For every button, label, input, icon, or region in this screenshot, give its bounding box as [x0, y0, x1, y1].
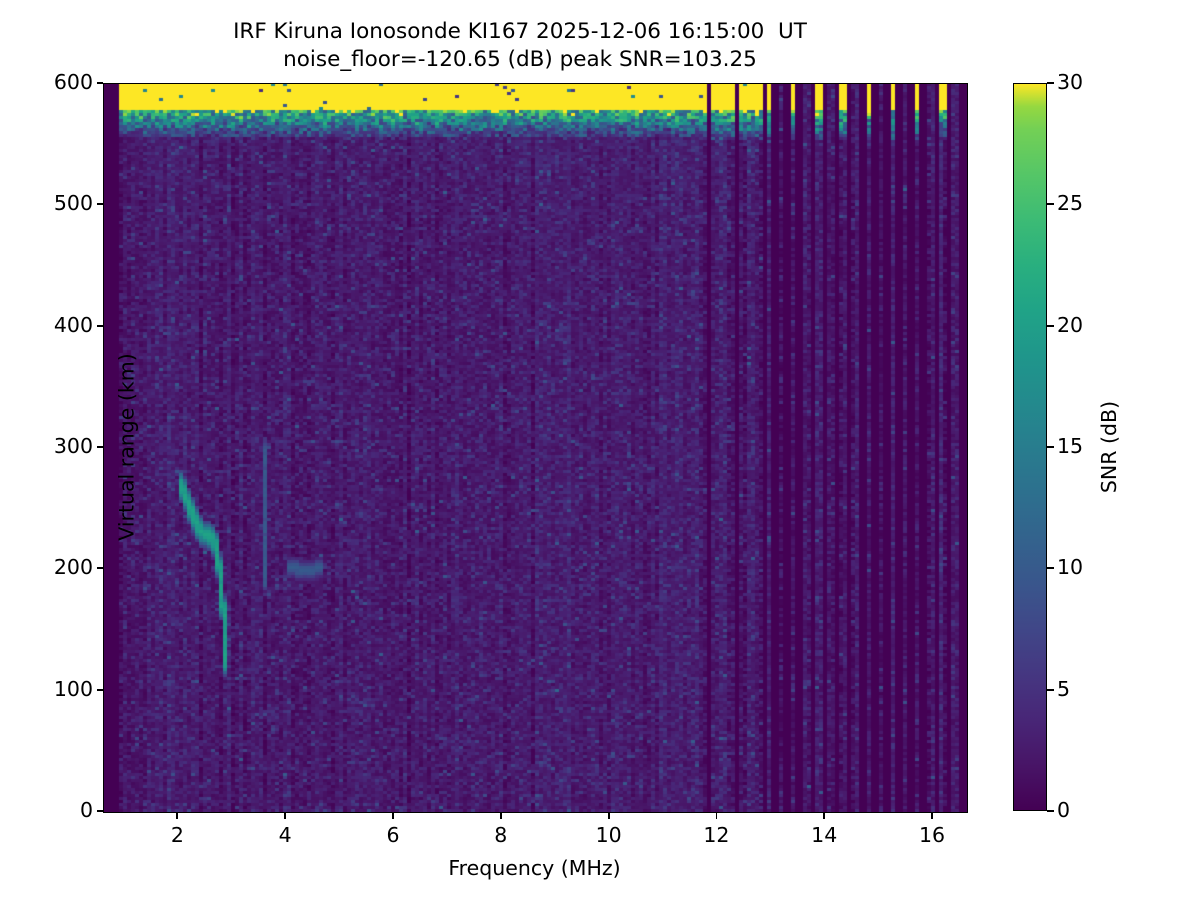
- colorbar-tick-label: 30: [1057, 70, 1083, 94]
- x-tick-label: 8: [494, 823, 507, 847]
- figure-title: IRF Kiruna Ionosonde KI167 2025-12-06 16…: [0, 18, 1040, 74]
- y-tick-label: 0: [80, 798, 93, 822]
- colorbar-tick-mark: [1047, 325, 1054, 327]
- colorbar-tick-mark: [1047, 689, 1054, 691]
- ionogram-figure: IRF Kiruna Ionosonde KI167 2025-12-06 16…: [0, 0, 1200, 900]
- colorbar: 051015202530 SNR (dB): [1013, 83, 1047, 811]
- colorbar-label: SNR (dB): [1097, 401, 1121, 493]
- x-tick-mark: [392, 812, 394, 819]
- y-tick-label: 200: [54, 555, 93, 579]
- title-line-2: noise_floor=-120.65 (dB) peak SNR=103.25: [0, 46, 1040, 74]
- colorbar-tick-label: 15: [1057, 434, 1083, 458]
- x-tick-mark: [176, 812, 178, 819]
- x-tick-label: 10: [596, 823, 622, 847]
- colorbar-gradient: [1013, 83, 1047, 811]
- colorbar-tick-mark: [1047, 203, 1054, 205]
- colorbar-tick-label: 25: [1057, 191, 1083, 215]
- colorbar-tick-mark: [1047, 82, 1054, 84]
- title-line-1: IRF Kiruna Ionosonde KI167 2025-12-06 16…: [0, 18, 1040, 46]
- x-tick-mark: [823, 812, 825, 819]
- colorbar-ticks: 051015202530: [1047, 83, 1137, 811]
- colorbar-tick-label: 0: [1057, 798, 1070, 822]
- y-tick-label: 100: [54, 677, 93, 701]
- x-tick-label: 4: [279, 823, 292, 847]
- x-tick-mark: [716, 812, 718, 819]
- x-tick-label: 6: [386, 823, 399, 847]
- y-axis-ticks: 0100200300400500600: [0, 83, 103, 811]
- colorbar-tick-label: 10: [1057, 555, 1083, 579]
- x-tick-label: 16: [919, 823, 945, 847]
- y-tick-label: 400: [54, 313, 93, 337]
- x-axis-label: Frequency (MHz): [103, 856, 966, 880]
- x-axis: 246810121416 Frequency (MHz): [103, 83, 966, 811]
- x-tick-label: 2: [171, 823, 184, 847]
- colorbar-tick-label: 20: [1057, 313, 1083, 337]
- y-tick-label: 500: [54, 191, 93, 215]
- colorbar-tick-mark: [1047, 446, 1054, 448]
- y-tick-label: 600: [54, 70, 93, 94]
- x-tick-label: 12: [703, 823, 729, 847]
- x-tick-mark: [608, 812, 610, 819]
- x-tick-label: 14: [811, 823, 837, 847]
- x-tick-mark: [500, 812, 502, 819]
- x-tick-mark: [284, 812, 286, 819]
- colorbar-tick-mark: [1047, 567, 1054, 569]
- x-tick-mark: [931, 812, 933, 819]
- y-tick-label: 300: [54, 434, 93, 458]
- colorbar-tick-mark: [1047, 810, 1054, 812]
- colorbar-tick-label: 5: [1057, 677, 1070, 701]
